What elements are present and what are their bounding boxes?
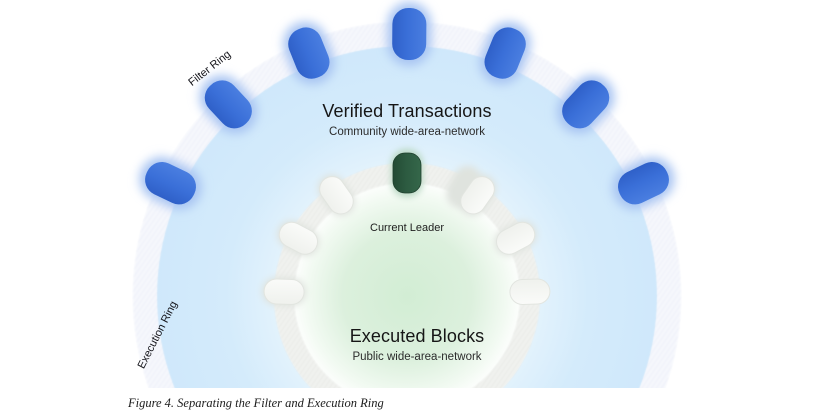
filter-ring-node[interactable] [392,8,426,60]
verified-transactions-label: Verified Transactions Community wide-are… [267,100,547,140]
execution-ring-node[interactable] [264,279,305,305]
inner-zone-subtitle: Public wide-area-network [277,349,557,365]
executed-blocks-label: Executed Blocks Public wide-area-network [277,325,557,365]
current-leader-label: Current Leader [337,222,477,234]
outer-zone-title: Verified Transactions [267,100,547,122]
current-leader-node[interactable] [393,153,421,193]
figure-root: Verified Transactions Community wide-are… [0,0,814,416]
inner-zone-title: Executed Blocks [277,325,557,347]
ring-diagram: Verified Transactions Community wide-are… [0,0,814,388]
outer-zone-subtitle: Community wide-area-network [267,124,547,140]
figure-caption: Figure 4. Separating the Filter and Exec… [128,396,384,411]
execution-ring-node[interactable] [510,279,551,305]
